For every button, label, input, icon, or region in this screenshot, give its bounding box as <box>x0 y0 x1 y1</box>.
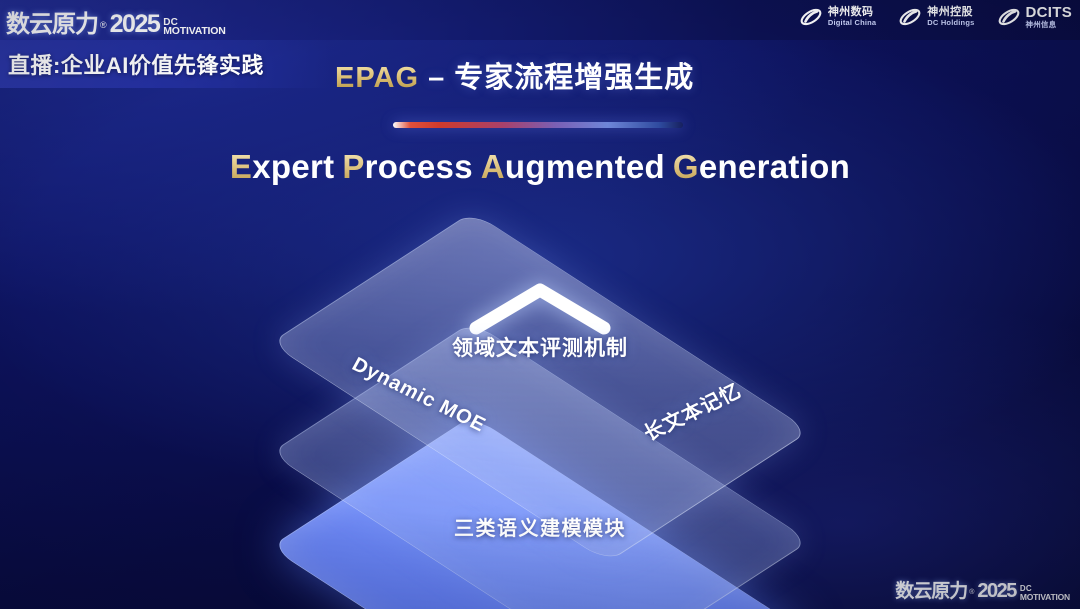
partner-logo-dc-holdings: 神州控股 DC Holdings <box>898 5 974 29</box>
swirl-logo-icon <box>898 5 922 29</box>
word-rest: xpert <box>252 148 334 185</box>
partner-name-en: DCITS <box>1026 5 1073 21</box>
partner-name-en: DC Holdings <box>927 19 974 27</box>
title-chinese: – 专家流程增强生成 <box>419 62 694 94</box>
footer-brand-motivation-text: MOTIVATION <box>1020 593 1070 601</box>
partner-logos: 神州数码 Digital China 神州控股 DC Holdings <box>799 5 1072 29</box>
brand-motivation-text: MOTIVATION <box>163 27 225 37</box>
partner-label: 神州数码 Digital China <box>828 7 876 26</box>
english-word-1: Expert <box>230 148 335 185</box>
brand-year: 2025 <box>110 10 160 39</box>
english-title: ExpertProcessAugmentedGeneration <box>0 148 1080 186</box>
word-rest: ugmented <box>505 148 665 185</box>
word-capital: E <box>230 148 252 185</box>
layer-label-bottom: 三类语义建模模块 <box>454 512 626 541</box>
partner-name-cn: 神州信息 <box>1026 21 1073 29</box>
partner-logo-dcits: DCITS 神州信息 <box>997 5 1073 29</box>
registered-mark: ® <box>100 20 107 30</box>
word-rest: eneration <box>699 148 850 185</box>
live-subtitle: 直播:企业AI价值先锋实践 <box>8 48 264 80</box>
title-acronym: EPAG <box>335 62 419 94</box>
brand-logo: 数云原力 ® 2025 DC MOTIVATION <box>6 4 226 39</box>
english-word-2: Process <box>342 148 473 185</box>
word-rest: rocess <box>365 148 473 185</box>
brand-dc-motivation: DC MOTIVATION <box>163 18 225 37</box>
english-word-3: Augmented <box>481 148 665 185</box>
word-capital: G <box>673 148 699 185</box>
english-word-4: Generation <box>673 148 850 185</box>
footer-brand-year: 2025 <box>977 580 1016 603</box>
brand-name-cn: 数云原力 <box>6 4 98 39</box>
page-title: EPAG – 专家流程增强生成 <box>335 54 694 96</box>
partner-logo-digital-china: 神州数码 Digital China <box>799 5 876 29</box>
word-capital: A <box>481 148 505 185</box>
footer-brand-watermark: 数云原力 ® 2025 DC MOTIVATION <box>895 576 1070 603</box>
footer-registered-mark: ® <box>969 589 974 596</box>
footer-brand-dc-motivation: DC MOTIVATION <box>1020 585 1070 601</box>
layer-label-top: 领域文本评测机制 <box>452 332 628 362</box>
gradient-divider <box>393 122 683 128</box>
partner-name-en: Digital China <box>828 19 876 27</box>
swirl-logo-icon <box>799 5 823 29</box>
footer-brand-name-cn: 数云原力 <box>895 576 967 603</box>
chevron-up-icon <box>464 278 616 338</box>
partner-label: 神州控股 DC Holdings <box>927 7 974 26</box>
word-capital: P <box>342 148 364 185</box>
swirl-logo-icon <box>997 5 1021 29</box>
layered-diagram: 领域文本评测机制 Dynamic MOE 长文本记忆 三类语义建模模块 <box>280 236 800 576</box>
partner-label: DCITS 神州信息 <box>1026 5 1073 29</box>
slide-stage: 数云原力 ® 2025 DC MOTIVATION 直播:企业AI价值先锋实践 … <box>0 0 1080 609</box>
